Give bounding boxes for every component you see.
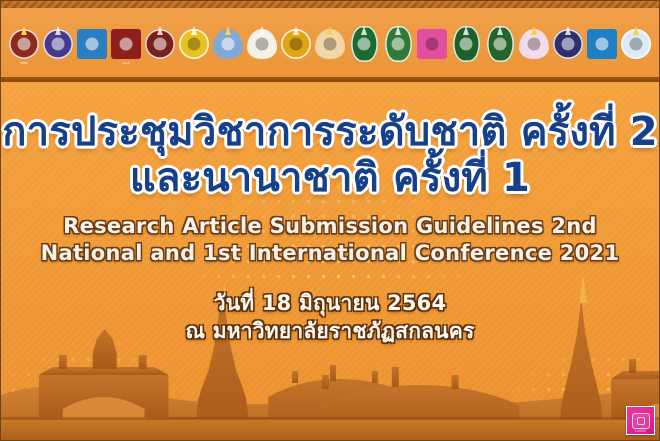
partner-logo-blue-wave-university	[587, 22, 617, 66]
english-subtitle-line1: Research Article Submission Guidelines 2…	[1, 213, 659, 240]
white-pagoda-emblem-emblem-core	[256, 37, 269, 50]
sakon-nakhon-rajabhat-university-spire-icon	[21, 26, 27, 35]
rajabhat-university-network-spire-icon	[55, 26, 61, 35]
sri-lanka-partner-logo-emblem-core	[426, 37, 439, 50]
partner-logo-sakon-nakhon-rajabhat-university: SNRU	[9, 22, 39, 66]
ubon-ratchathani-university-emblem-core	[86, 37, 99, 50]
partner-logo-ufls-university: UFLS	[111, 22, 141, 66]
maroon-seal-university-spire-icon	[157, 26, 163, 35]
partner-logo-yellow-seal-university	[179, 22, 209, 66]
yellow-seal-university-spire-icon	[191, 26, 197, 35]
green-oval-university-spire-icon	[361, 26, 367, 35]
partner-logo-sri-lanka-partner-logo	[417, 22, 447, 66]
navy-temple-emblem-emblem-core	[562, 37, 575, 50]
partner-logo-navy-temple-emblem	[553, 22, 583, 66]
top-accent-strip	[1, 1, 659, 8]
partner-logo-blue-flame-institute	[213, 22, 243, 66]
navy-temple-emblem-spire-icon	[565, 26, 571, 35]
green-ring-institute-emblem-core	[392, 37, 405, 50]
blue-wave-university-emblem-core	[596, 37, 609, 50]
event-date: วันที่ 18 มิถุนายน 2564	[1, 290, 659, 318]
partner-logo-pink-pagoda-emblem	[519, 22, 549, 66]
yellow-seal-university-emblem-core	[188, 37, 201, 50]
blue-flame-institute-emblem-core	[222, 37, 235, 50]
partner-logo-rajabhat-university-network	[43, 22, 73, 66]
dark-green-oval-university-emblem-core	[460, 37, 473, 50]
green-seal-university-emblem-core	[494, 37, 507, 50]
white-pagoda-emblem-spire-icon	[259, 26, 265, 35]
partner-logo-maroon-seal-university	[145, 22, 175, 66]
partner-logo-ubon-ratchathani-university	[77, 22, 107, 66]
header-divider	[1, 77, 659, 82]
green-oval-university-emblem-core	[358, 37, 371, 50]
english-subtitle-line2: National and 1st International Conferenc…	[1, 240, 659, 267]
rajabhat-university-network-emblem-core	[52, 37, 65, 50]
pink-corner-badge[interactable]: LOGO	[626, 406, 655, 435]
partner-logo-green-ring-institute	[383, 22, 413, 66]
english-subtitle: Research Article Submission Guidelines 2…	[1, 213, 659, 268]
poster-text-block: การประชุมวิชาการระดับชาติ ครั้งที่ 2 และ…	[1, 82, 659, 345]
green-ring-institute-spire-icon	[395, 26, 401, 35]
badge-label: LOGO	[635, 429, 646, 433]
conference-banner: SNRUUFLS	[0, 0, 660, 441]
pink-pagoda-emblem-spire-icon	[531, 26, 537, 35]
blue-flame-institute-spire-icon	[225, 26, 231, 35]
partner-logo-white-pagoda-emblem	[247, 22, 277, 66]
sakon-nakhon-rajabhat-university-abbr: SNRU	[20, 62, 28, 65]
event-venue: ณ มหาวิทยาลัยราชภัฏสกลนคร	[1, 318, 659, 346]
ufls-university-abbr: UFLS	[122, 62, 129, 65]
partner-logo-green-oval-university	[349, 22, 379, 66]
event-details: วันที่ 18 มิถุนายน 2564 ณ มหาวิทยาลัยราช…	[1, 290, 659, 345]
maroon-seal-university-emblem-core	[154, 37, 167, 50]
partner-logo-light-blue-seal-university	[621, 22, 651, 66]
partner-logo-green-seal-university	[485, 22, 515, 66]
partner-logo-dark-green-oval-university	[451, 22, 481, 66]
thai-title-line1: การประชุมวิชาการระดับชาติ ครั้งที่ 2	[1, 82, 659, 156]
golden-lotus-emblem-emblem-core	[324, 37, 337, 50]
light-blue-seal-university-spire-icon	[633, 26, 639, 35]
poster-body: การประชุมวิชาการระดับชาติ ครั้งที่ 2 และ…	[1, 82, 659, 441]
pink-pagoda-emblem-emblem-core	[528, 37, 541, 50]
thai-title-line2: และนานาชาติ ครั้งที่ 1	[1, 156, 659, 202]
royal-gold-emblem-emblem-core	[290, 37, 303, 50]
partner-logo-row: SNRUUFLS	[1, 8, 659, 79]
sakon-nakhon-rajabhat-university-emblem-core	[18, 37, 31, 50]
partner-logo-golden-lotus-emblem	[315, 22, 345, 66]
light-blue-seal-university-emblem-core	[630, 37, 643, 50]
golden-lotus-emblem-spire-icon	[327, 26, 333, 35]
green-seal-university-spire-icon	[497, 26, 503, 35]
ufls-university-emblem-core	[120, 37, 133, 50]
thai-title: การประชุมวิชาการระดับชาติ ครั้งที่ 2 และ…	[1, 82, 659, 201]
dark-green-oval-university-spire-icon	[463, 26, 469, 35]
partner-logo-royal-gold-emblem	[281, 22, 311, 66]
royal-gold-emblem-spire-icon	[293, 26, 299, 35]
badge-logo-icon	[632, 413, 650, 429]
partner-logo-band: SNRUUFLS	[1, 8, 659, 79]
